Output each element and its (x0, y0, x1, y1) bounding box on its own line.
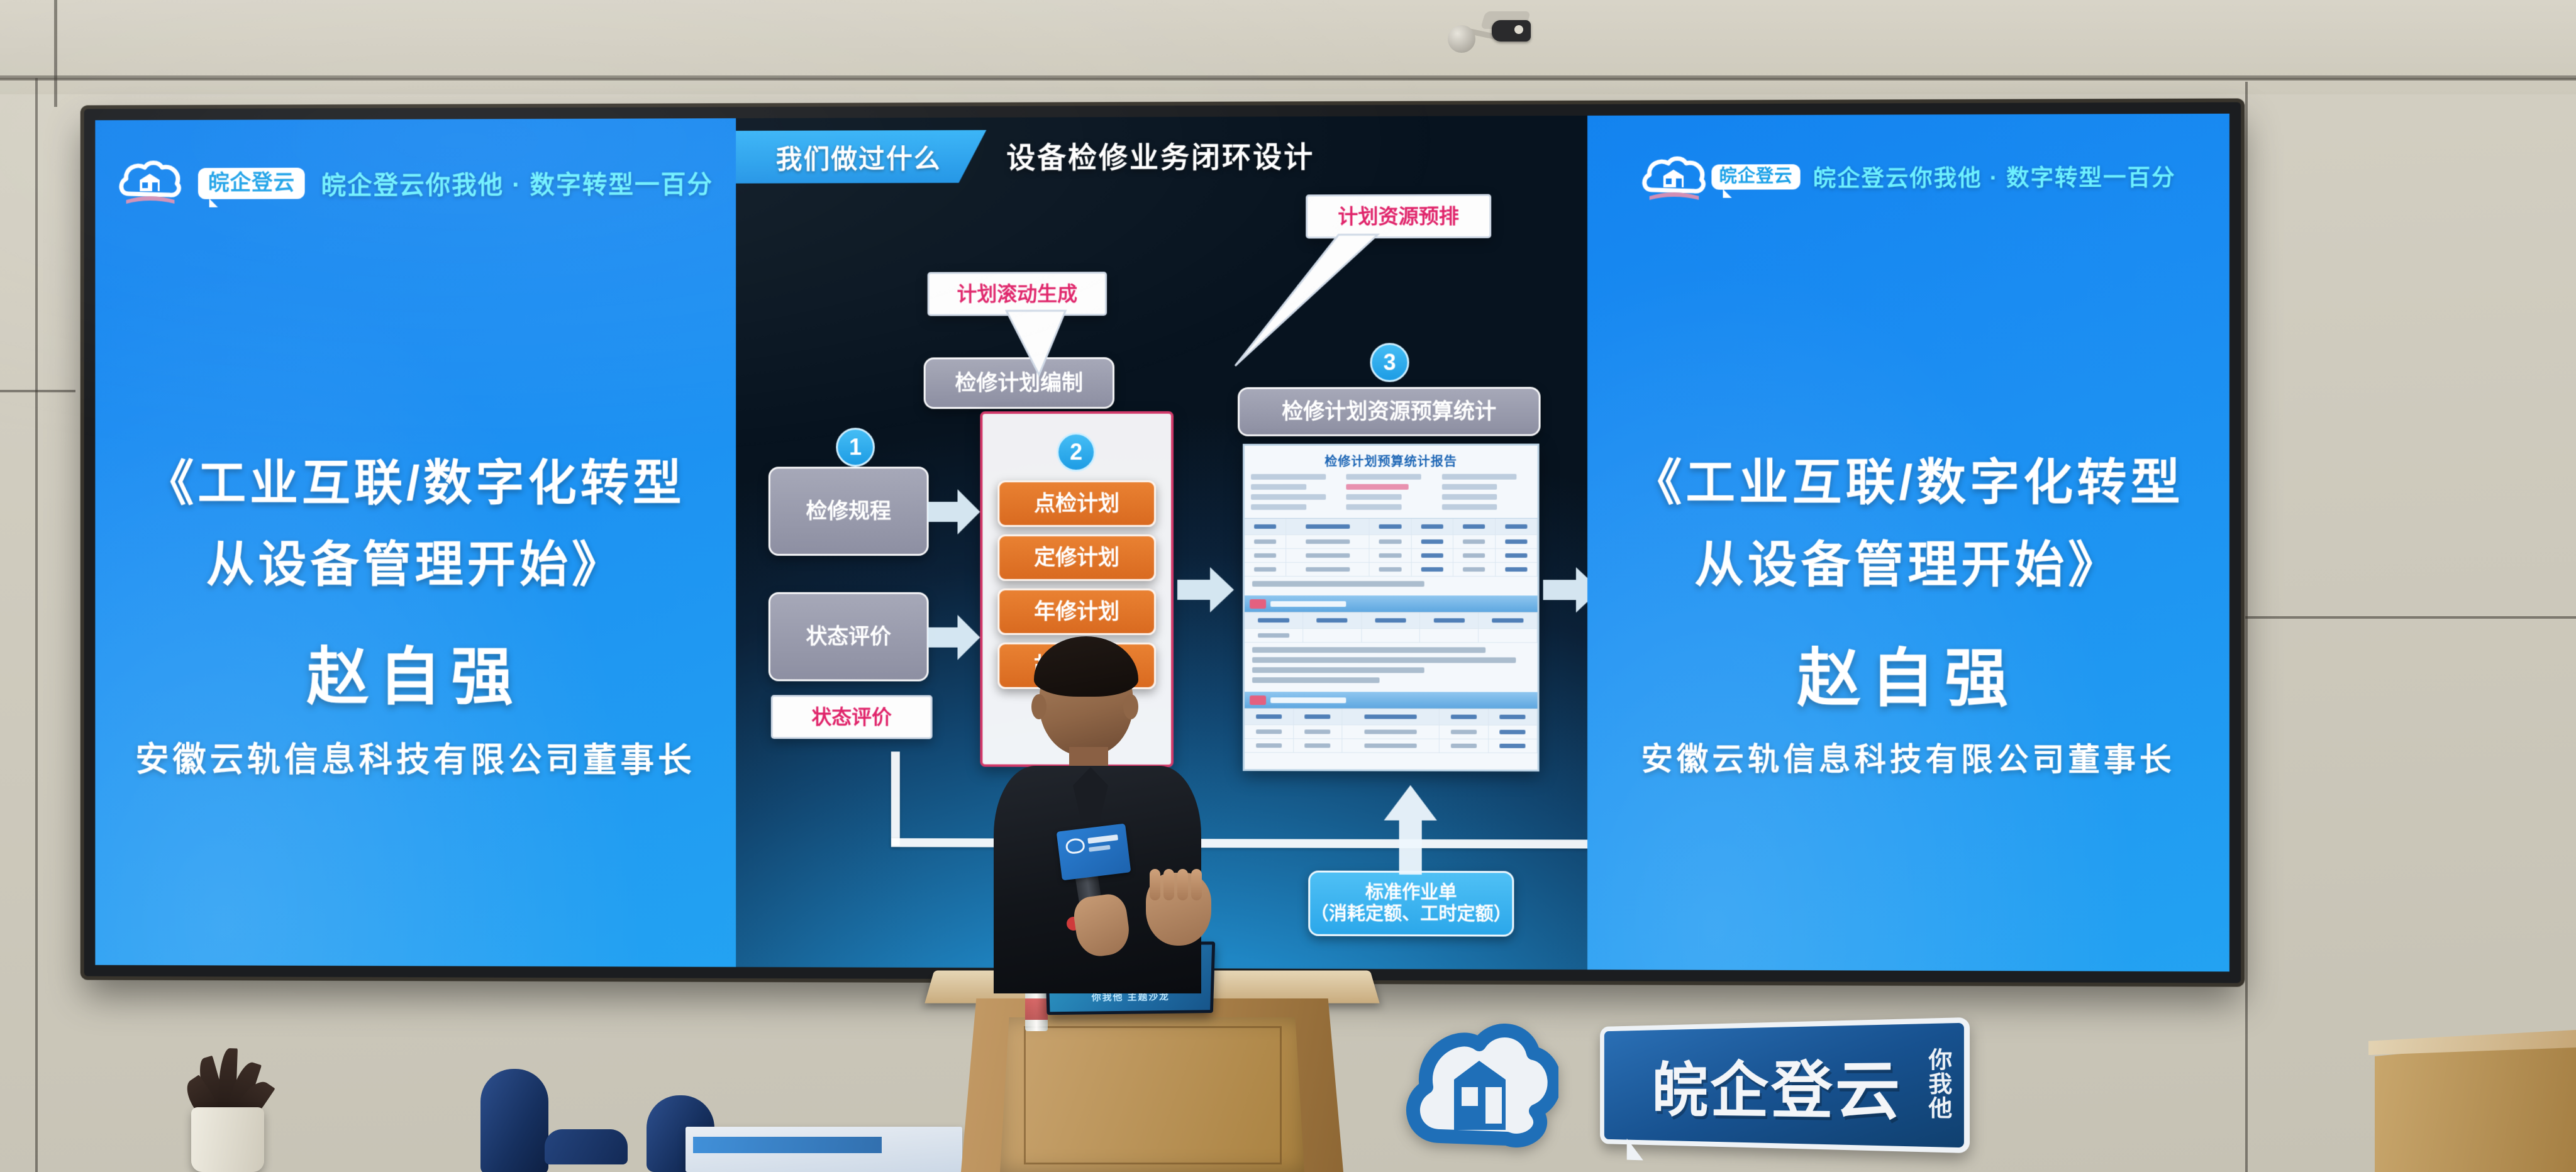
section-label (1270, 697, 1346, 703)
report-cell (1287, 563, 1370, 576)
report-note-line (1252, 647, 1485, 653)
report-cell (1489, 739, 1538, 753)
arrow-assessment-to-plans-icon (928, 612, 982, 663)
report-meta-line (1442, 504, 1497, 510)
section-label (1270, 601, 1346, 607)
report-cell (1245, 549, 1287, 562)
report-section-header-2 (1245, 692, 1538, 709)
report-header-cell (1245, 709, 1294, 724)
report-note-line (1252, 677, 1380, 683)
report-cell (1496, 563, 1538, 576)
report-cell (1440, 726, 1489, 739)
node-inspection-rules: 检修规程 (769, 467, 929, 556)
report-meta-block (1245, 474, 1538, 518)
right-brand-row: 皖企登云 皖企登云你我他 · 数字转型一百分 (1587, 153, 2229, 200)
emblem-cloud-icon (1401, 1007, 1558, 1164)
speaker-hair (1034, 636, 1138, 697)
node-annual-repair-plan: 年修计划 (997, 589, 1156, 635)
node-scheduled-repair-plan: 定修计划 (997, 534, 1156, 581)
report-meta-line (1251, 504, 1306, 510)
report-cell (1303, 629, 1362, 642)
conference-chair-1 (465, 1069, 654, 1172)
report-meta-line (1442, 494, 1497, 500)
panel-title-line2: 从设备管理开始》 (1587, 526, 2229, 597)
report-cell (1370, 563, 1412, 576)
report-cell (1370, 549, 1412, 562)
connector-left-vertical (891, 751, 900, 846)
report-cell (1362, 629, 1420, 642)
report-meta-line (1251, 494, 1326, 500)
chair-backrest (480, 1069, 548, 1172)
report-header-cell (1245, 612, 1303, 628)
speaker-ear-left (1031, 694, 1046, 719)
report-cell (1287, 549, 1370, 562)
security-camera-icon (1434, 9, 1547, 65)
panel-speaker-org: 安徽云轨信息科技有限公司董事长 (95, 732, 736, 782)
report-cell (1294, 739, 1343, 752)
report-cell (1245, 739, 1294, 752)
step-badge-2: 2 (1057, 433, 1096, 472)
report-cell (1370, 535, 1412, 548)
panel-speaker-name: 赵自强 (95, 626, 736, 717)
report-header-cell (1303, 612, 1362, 628)
report-table-row (1245, 725, 1538, 739)
step-badge-3: 3 (1370, 343, 1409, 382)
slide-title: 设备检修业务闭环设计 (736, 133, 1587, 177)
desk-name-plate (686, 1127, 962, 1172)
left-brand-row: 皖企登云 皖企登云你我他 · 数字转型一百分 (95, 157, 736, 209)
report-table-header-row (1245, 612, 1538, 629)
report-cell (1342, 739, 1440, 752)
embedded-report-screenshot: 检修计划预算统计报告 (1243, 444, 1540, 771)
node-condition-assessment: 状态评价 (769, 592, 929, 682)
report-subtotal-row (1245, 577, 1538, 595)
panel-title-line2: 从设备管理开始》 (95, 526, 736, 596)
mic-cloud-icon (1065, 838, 1085, 854)
node-spot-check-plan: 点检计划 (997, 480, 1156, 527)
report-note-line (1252, 657, 1516, 663)
report-table-header-row (1245, 519, 1538, 535)
report-meta-line (1346, 504, 1402, 510)
logo-wordmark-pill: 皖企登云 (1711, 164, 1800, 190)
report-note-line (1252, 667, 1424, 673)
emblem-plate: 皖企登云 你我他 (1600, 1017, 1970, 1153)
section-tag (1250, 599, 1266, 609)
cloud-logo-icon (1641, 155, 1699, 201)
emblem-sub-text: 你我他 (1925, 1048, 1950, 1120)
plant-pot (191, 1107, 264, 1172)
callout-rolling-tail-icon (1005, 309, 1080, 379)
report-header-cell (1294, 709, 1343, 724)
report-cell (1245, 725, 1294, 738)
report-meta-line (1251, 484, 1306, 490)
speaker-ear-right (1123, 694, 1138, 719)
node-plan-budget-stats: 检修计划资源预算统计 (1238, 387, 1541, 436)
report-cell (1342, 725, 1440, 738)
report-cell (1479, 629, 1537, 642)
report-table-top (1245, 518, 1538, 577)
report-header-cell (1362, 612, 1420, 628)
report-header-cell (1342, 709, 1440, 724)
panel-speaker-org: 安徽云轨信息科技有限公司董事长 (1587, 734, 2229, 780)
cloud-logo-icon (118, 158, 182, 209)
arrow-report-to-checks-icon (1543, 565, 1587, 615)
report-cell (1411, 549, 1453, 562)
report-cell (1496, 549, 1538, 562)
report-header-cell (1496, 519, 1538, 534)
report-header-cell (1453, 519, 1496, 534)
camera-lens (1514, 25, 1523, 34)
report-table-row (1245, 549, 1538, 563)
wall-seam-left-low (0, 390, 75, 392)
report-table-header-row (1245, 709, 1538, 726)
speaking-podium: 皖企登云 你我他 主题沙龙 (930, 968, 1375, 1172)
speaker-hand-right (1146, 873, 1211, 946)
right-title-panel: 皖企登云 皖企登云你我他 · 数字转型一百分 《工业互联/数字化转型 从设备管理… (1587, 114, 2229, 972)
report-section-header-1 (1245, 595, 1538, 612)
panel-title-line1: 《工业互联/数字化转型 (95, 444, 736, 514)
camera-body (1492, 20, 1531, 41)
report-table-row (1245, 629, 1538, 643)
report-cell (1453, 535, 1496, 548)
wall-seam-horizontal (0, 78, 2576, 80)
report-table-middle (1245, 612, 1538, 643)
report-meta-line (1346, 494, 1402, 500)
report-title: 检修计划预算统计报告 (1245, 446, 1538, 474)
report-cell (1420, 629, 1479, 642)
report-meta-line (1442, 474, 1517, 480)
wall-seam-vertical-b (35, 78, 38, 1172)
report-cell (1489, 726, 1538, 739)
desk-plate-band (693, 1137, 882, 1153)
report-header-cell (1287, 519, 1370, 534)
panel-speaker-name: 赵自强 (1587, 626, 2229, 719)
section-tag (1250, 695, 1266, 705)
report-cell (1287, 535, 1370, 548)
arrow-rules-to-plans-icon (928, 487, 982, 537)
brand-slogan: 皖企登云你我他 · 数字转型一百分 (321, 164, 714, 201)
bottle-label (1025, 998, 1048, 1020)
report-subtotal-line (1252, 581, 1424, 587)
podium-panel-inlay (1024, 1026, 1282, 1164)
wall-seam-vertical-a (54, 0, 57, 107)
report-header-cell (1245, 519, 1287, 534)
arrow-work-order-up-icon (1383, 785, 1438, 876)
report-header-cell (1479, 612, 1537, 628)
report-cell (1453, 549, 1496, 562)
logo-wordmark-text: 皖企登云 (208, 172, 295, 194)
report-meta-col-2 (1346, 474, 1436, 514)
speaker-fingers (1150, 869, 1202, 900)
wall-seam-right-mid (2245, 616, 2576, 619)
left-title-panel: 皖企登云 皖企登云你我他 · 数字转型一百分 《工业互联/数字化转型 从设备管理… (95, 118, 736, 967)
step-badge-1: 1 (836, 428, 875, 467)
wall-seam-vertical-c (2245, 82, 2248, 1172)
right-desk-body (2375, 1037, 2576, 1172)
microphone-flag-logo (1057, 824, 1131, 881)
callout-condition-assessment: 状态评价 (771, 695, 933, 739)
chair-armrest (545, 1129, 628, 1164)
mic-flag-text (1087, 834, 1118, 844)
report-table-bottom (1245, 708, 1538, 753)
report-meta-col-3 (1442, 474, 1531, 514)
report-header-cell (1420, 612, 1479, 628)
emblem-main-text: 皖企登云 (1652, 1038, 1903, 1132)
report-table-row (1245, 535, 1538, 549)
logo-wordmark-text: 皖企登云 (1719, 167, 1792, 185)
report-cell (1294, 725, 1343, 738)
report-cell (1496, 535, 1538, 548)
panel-title-line1: 《工业互联/数字化转型 (1587, 443, 2229, 514)
report-meta-col-1 (1251, 474, 1340, 514)
report-table-row (1245, 563, 1538, 577)
node-standard-work-order: 标准作业单 （消耗定额、工时定额） (1308, 871, 1514, 937)
speaker-person (981, 641, 1226, 993)
report-header-cell (1440, 709, 1489, 725)
venue-emblem-sign: 皖企登云 你我他 (1401, 998, 2036, 1172)
mic-flag-subtext (1089, 845, 1111, 852)
brand-slogan: 皖企登云你我他 · 数字转型一百分 (1813, 160, 2176, 194)
report-cell (1440, 739, 1489, 753)
report-header-cell (1489, 709, 1538, 725)
report-cell (1245, 629, 1303, 642)
report-meta-line-highlight (1346, 484, 1409, 490)
report-header-cell (1370, 519, 1412, 534)
arrow-plans-to-report-icon (1177, 565, 1235, 615)
report-meta-line (1251, 474, 1326, 480)
camera-mount (1448, 25, 1475, 53)
report-cell (1411, 563, 1453, 576)
report-cell (1245, 563, 1287, 576)
report-cell (1245, 535, 1287, 548)
callout-prescheduling-tail-icon (1231, 231, 1389, 370)
report-header-cell (1411, 519, 1453, 534)
report-notes-block (1245, 643, 1538, 692)
report-meta-line (1346, 474, 1421, 480)
report-table-row (1245, 739, 1538, 753)
report-cell (1411, 535, 1453, 548)
report-cell (1453, 563, 1496, 576)
logo-wordmark-pill: 皖企登云 (198, 168, 305, 199)
presentation-room-photo: 皖企登云 皖企登云你我他 · 数字转型一百分 《工业互联/数字化转型 从设备管理… (0, 0, 2576, 1172)
potted-plant (186, 1047, 269, 1172)
report-meta-line (1442, 484, 1497, 490)
